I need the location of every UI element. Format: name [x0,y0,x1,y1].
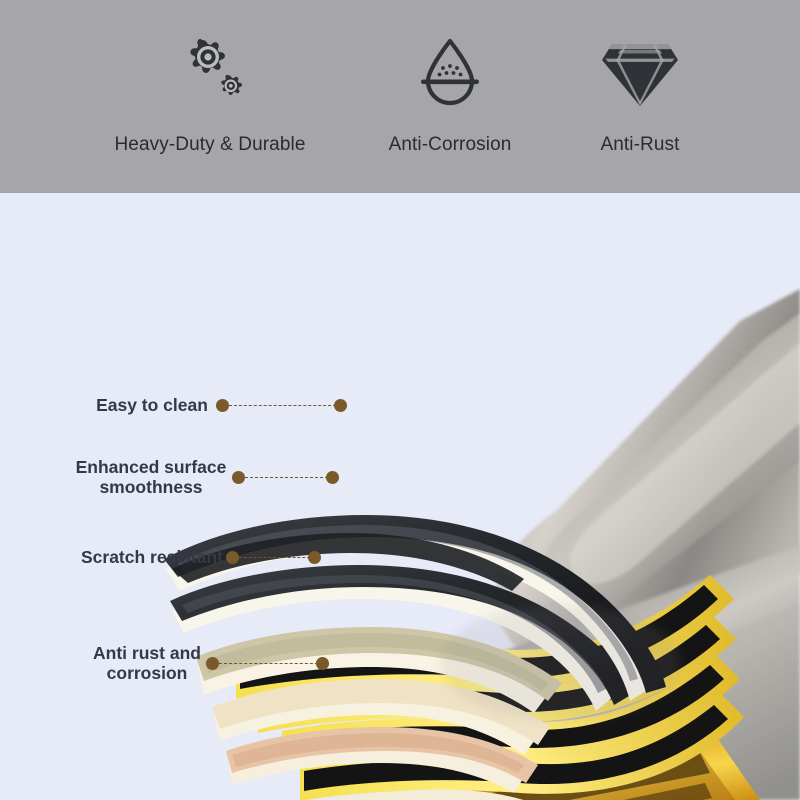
callout-enhanced-surface-smoothness: Enhanced surface smoothness [70,458,333,497]
infographic-page: Heavy-Duty & Durable [0,0,800,800]
callout-label: Enhanced surface smoothness [70,458,232,497]
feature-item-anti-rust: Anti-Rust [540,34,740,156]
callout-dashed-line [229,405,341,406]
callout-dashed-line [239,557,315,558]
callout-label: Scratch resistant [78,548,226,568]
callout-anti-rust-and-corrosion: Anti rust and corrosion [88,644,323,683]
callout-leader [206,657,323,670]
callout-dot [226,551,239,564]
gears-icon [172,34,248,112]
feature-label: Anti-Rust [600,134,679,156]
callout-label: Easy to clean [88,396,216,416]
callout-dashed-line [219,663,323,664]
callout-dot [216,399,229,412]
callout-easy-to-clean: Easy to clean [88,396,341,416]
callout-label: Anti rust and corrosion [88,644,206,683]
callout-dot [232,471,245,484]
feature-label: Anti-Corrosion [389,134,512,156]
callout-dot [206,657,219,670]
feature-item-anti-corrosion: Anti-Corrosion [360,34,540,156]
callout-scratch-resistant: Scratch resistant [78,548,315,568]
callout-dot-endpoint [316,657,329,670]
feature-label: Heavy-Duty & Durable [114,134,305,156]
callout-leader [216,399,341,412]
diamond-icon [602,34,678,112]
callout-dashed-line [245,477,333,478]
water-droplet-anti-corrosion-icon [419,34,481,112]
feature-bar: Heavy-Duty & Durable [0,0,800,193]
callout-dot-endpoint [326,471,339,484]
callout-leader [226,551,315,564]
callout-leader [232,471,333,484]
feature-item-heavy-duty: Heavy-Duty & Durable [60,34,360,156]
